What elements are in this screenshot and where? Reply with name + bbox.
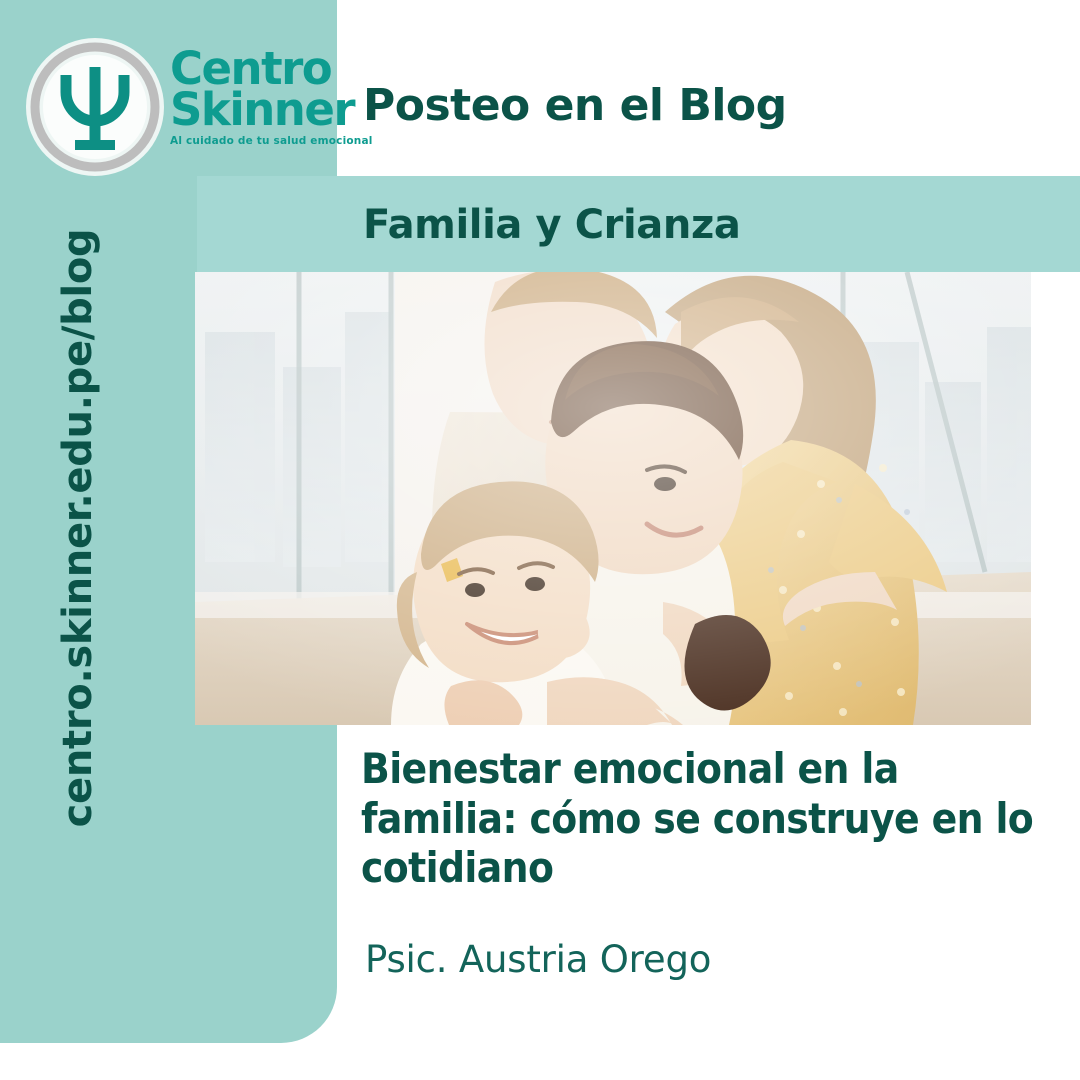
blog-url-vertical[interactable]: centro.skinner.edu.pe/blog — [55, 228, 101, 828]
social-post-canvas: Centro Skinner Al cuidado de tu salud em… — [0, 0, 1080, 1080]
brand-logo: Centro Skinner Al cuidado de tu salud em… — [20, 34, 340, 174]
psi-circle-icon — [24, 36, 166, 178]
post-photo — [195, 272, 1031, 725]
post-author: Psic. Austria Orego — [365, 938, 711, 981]
brand-tagline: Al cuidado de tu salud emocional — [170, 135, 355, 147]
post-title: Bienestar emocional en la familia: cómo … — [361, 744, 1061, 893]
brand-name-line2: Skinner — [170, 89, 355, 130]
page-title: Posteo en el Blog — [363, 80, 787, 131]
brand-wordmark: Centro Skinner Al cuidado de tu salud em… — [170, 48, 355, 147]
category-band: Familia y Crianza — [197, 176, 1080, 272]
category-label: Familia y Crianza — [363, 202, 740, 248]
